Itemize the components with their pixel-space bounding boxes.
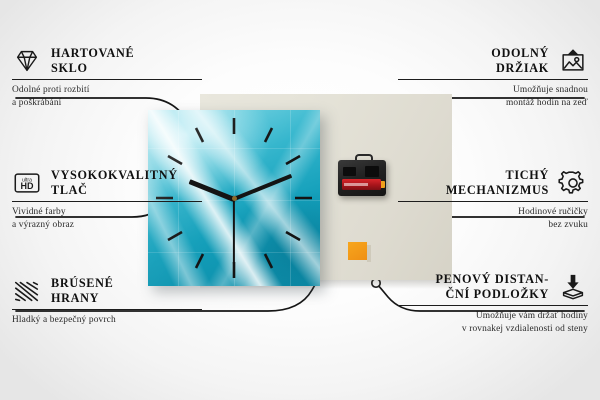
mechanism-slot-right xyxy=(365,166,379,177)
feature-divider xyxy=(398,79,588,80)
feature-silent-mechanism: TICHÝ MECHANIZMUS Hodinové ručičky bez z… xyxy=(398,168,588,231)
feature-title: BRÚSENÉ HRANY xyxy=(51,276,113,306)
feature-description: Odolné proti rozbití a poškrábání xyxy=(12,84,202,109)
foam-spacer-pad xyxy=(348,242,370,262)
feature-description: Umožňuje snadnou montáž hodin na zeď xyxy=(398,84,588,109)
foam-pad-side xyxy=(367,245,371,262)
feature-header: ultra HD VYSOKOKVALITNÝ TLAČ xyxy=(12,168,202,198)
picture-frame-icon xyxy=(558,46,588,76)
feature-title: PENOVÝ DISTAN- ČNÍ PODLOŽKY xyxy=(435,272,549,302)
feature-header: TICHÝ MECHANIZMUS xyxy=(398,168,588,198)
infographic-canvas: HARTOVANÉ SKLO Odolné proti rozbití a po… xyxy=(0,0,600,400)
feature-title: ODOLNÝ DRŽIAK xyxy=(491,46,549,76)
feature-durable-hanger: ODOLNÝ DRŽIAK Umožňuje snadnou montáž ho… xyxy=(398,46,588,109)
feature-foam-spacers: PENOVÝ DISTAN- ČNÍ PODLOŽKY Umožňuje vám… xyxy=(398,272,588,335)
feature-tempered-glass: HARTOVANÉ SKLO Odolné proti rozbití a po… xyxy=(12,46,202,109)
mechanism-body xyxy=(338,160,386,196)
diamond-icon xyxy=(12,46,42,76)
feature-divider xyxy=(398,305,588,306)
feature-divider xyxy=(12,79,202,80)
feature-divider xyxy=(398,201,588,202)
feature-title: VYSOKOKVALITNÝ TLAČ xyxy=(51,168,178,198)
feature-description: Vividné farby a výrazný obraz xyxy=(12,206,202,231)
feature-high-quality-print: ultra HD VYSOKOKVALITNÝ TLAČ Vividné far… xyxy=(12,168,202,231)
battery-label-stripe xyxy=(344,183,368,186)
feature-header: BRÚSENÉ HRANY xyxy=(12,276,202,306)
foam-pad-top xyxy=(348,242,367,260)
feature-divider xyxy=(12,309,202,310)
feature-description: Hodinové ručičky bez zvuku xyxy=(398,206,588,231)
svg-text:HD: HD xyxy=(21,181,34,191)
feature-header: HARTOVANÉ SKLO xyxy=(12,46,202,76)
feature-divider xyxy=(12,201,202,202)
ultra-hd-icon: ultra HD xyxy=(12,168,42,198)
feature-description: Hladký a bezpečný povrch xyxy=(12,314,202,327)
feature-description: Umožňuje vám držať hodiny v rovnakej vzd… xyxy=(398,310,588,335)
feature-header: PENOVÝ DISTAN- ČNÍ PODLOŽKY xyxy=(398,272,588,302)
arrow-onto-layers-icon xyxy=(558,272,588,302)
clock-hands-hub xyxy=(232,196,237,201)
bevel-lines-icon xyxy=(12,276,42,306)
second-hand xyxy=(233,198,235,264)
clock-mechanism xyxy=(338,154,386,196)
battery-positive-tip xyxy=(381,181,385,188)
feature-title: HARTOVANÉ SKLO xyxy=(51,46,134,76)
feature-title: TICHÝ MECHANIZMUS xyxy=(446,168,549,198)
gear-icon xyxy=(558,168,588,198)
mechanism-slot-left xyxy=(343,167,356,176)
feature-header: ODOLNÝ DRŽIAK xyxy=(398,46,588,76)
feature-ground-edges: BRÚSENÉ HRANY Hladký a bezpečný povrch xyxy=(12,276,202,327)
